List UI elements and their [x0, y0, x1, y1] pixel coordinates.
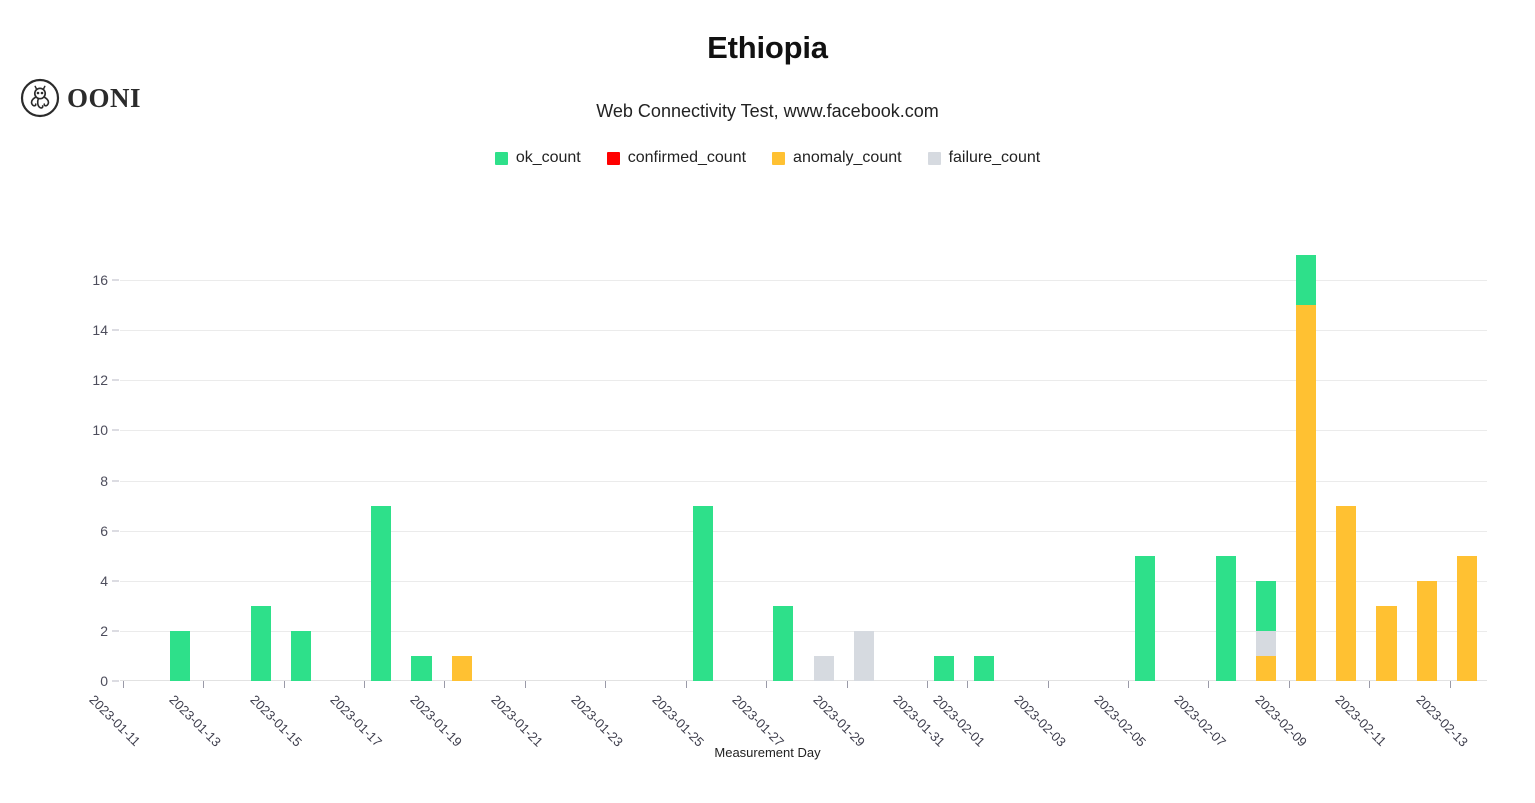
x-tick-label: 2023-01-17 [327, 692, 385, 750]
bar-segment-failure-count[interactable] [814, 656, 834, 681]
y-tick-mark [112, 580, 119, 581]
bar-segment-failure-count[interactable] [1256, 631, 1276, 656]
bar-stack[interactable] [854, 631, 874, 681]
bar-segment-ok-count[interactable] [1256, 581, 1276, 631]
y-gridline [120, 330, 1487, 331]
x-tick-mark [284, 681, 285, 688]
y-tick-mark [112, 480, 119, 481]
y-tick-mark [112, 630, 119, 631]
bar-stack[interactable] [974, 656, 994, 681]
bar-stack[interactable] [1457, 556, 1477, 681]
y-gridline [120, 430, 1487, 431]
y-tick-mark [112, 681, 119, 682]
x-tick-label: 2023-02-07 [1172, 692, 1230, 750]
y-tick-label: 16 [92, 272, 108, 288]
x-tick-label: 2023-02-03 [1011, 692, 1069, 750]
x-tick-mark [1048, 681, 1049, 688]
x-axis-title: Measurement Day [0, 745, 1535, 760]
bar-stack[interactable] [1296, 255, 1316, 681]
y-tick-label: 8 [100, 473, 108, 489]
y-gridline [120, 280, 1487, 281]
y-gridline [120, 481, 1487, 482]
chart-legend: ok_countconfirmed_countanomaly_countfail… [0, 149, 1535, 167]
x-tick-mark [605, 681, 606, 688]
y-gridline [120, 531, 1487, 532]
bar-segment-anomaly-count[interactable] [1417, 581, 1437, 681]
legend-label: failure_count [949, 149, 1041, 167]
x-tick-mark [1289, 681, 1290, 688]
bar-stack[interactable] [1417, 581, 1437, 681]
bar-stack[interactable] [934, 656, 954, 681]
legend-swatch-icon [772, 152, 785, 165]
bar-segment-ok-count[interactable] [693, 506, 713, 681]
x-tick-mark [1208, 681, 1209, 688]
x-tick-label: 2023-01-19 [408, 692, 466, 750]
bar-stack[interactable] [693, 506, 713, 681]
bar-segment-ok-count[interactable] [974, 656, 994, 681]
x-tick-mark [927, 681, 928, 688]
y-tick-label: 4 [100, 573, 108, 589]
bar-stack[interactable] [1376, 606, 1396, 681]
x-tick-label: 2023-01-29 [810, 692, 868, 750]
chart-plot-area: 02468101214162023-01-112023-01-132023-01… [120, 240, 1487, 681]
bar-stack[interactable] [291, 631, 311, 681]
bar-stack[interactable] [773, 606, 793, 681]
x-tick-label: 2023-01-25 [649, 692, 707, 750]
y-tick-label: 12 [92, 372, 108, 388]
bar-stack[interactable] [1135, 556, 1155, 681]
bar-segment-ok-count[interactable] [371, 506, 391, 681]
x-tick-label: 2023-01-15 [247, 692, 305, 750]
y-gridline [120, 581, 1487, 582]
x-tick-mark [847, 681, 848, 688]
legend-item-anomaly-count[interactable]: anomaly_count [772, 149, 902, 167]
y-tick-mark [112, 430, 119, 431]
x-tick-mark [1128, 681, 1129, 688]
x-tick-label: 2023-01-23 [569, 692, 627, 750]
bar-stack[interactable] [170, 631, 190, 681]
x-tick-mark [766, 681, 767, 688]
chart-page: OONI Ethiopia Web Connectivity Test, www… [0, 0, 1535, 803]
legend-item-failure-count[interactable]: failure_count [928, 149, 1041, 167]
bar-segment-ok-count[interactable] [170, 631, 190, 681]
legend-swatch-icon [607, 152, 620, 165]
bar-segment-ok-count[interactable] [411, 656, 431, 681]
x-tick-mark [525, 681, 526, 688]
bar-segment-ok-count[interactable] [291, 631, 311, 681]
x-tick-mark [1450, 681, 1451, 688]
y-tick-label: 10 [92, 422, 108, 438]
y-tick-mark [112, 330, 119, 331]
y-tick-label: 6 [100, 523, 108, 539]
bar-segment-ok-count[interactable] [1135, 556, 1155, 681]
legend-label: anomaly_count [793, 149, 902, 167]
bar-stack[interactable] [411, 656, 431, 681]
y-tick-mark [112, 380, 119, 381]
legend-item-ok-count[interactable]: ok_count [495, 149, 581, 167]
x-tick-mark [1369, 681, 1370, 688]
bar-stack[interactable] [251, 606, 271, 681]
x-tick-label: 2023-02-13 [1413, 692, 1471, 750]
bar-segment-anomaly-count[interactable] [1376, 606, 1396, 681]
bar-segment-ok-count[interactable] [934, 656, 954, 681]
y-tick-mark [112, 530, 119, 531]
x-tick-label: 2023-02-11 [1333, 692, 1390, 749]
bar-segment-anomaly-count[interactable] [1336, 506, 1356, 681]
bar-segment-failure-count[interactable] [854, 631, 874, 681]
x-axis-line [120, 680, 1487, 681]
bar-stack[interactable] [814, 656, 834, 681]
x-tick-label: 2023-01-13 [167, 692, 225, 750]
x-tick-label: 2023-02-05 [1091, 692, 1149, 750]
bar-segment-ok-count[interactable] [773, 606, 793, 681]
bar-segment-ok-count[interactable] [1296, 255, 1316, 305]
y-tick-mark [112, 280, 119, 281]
x-tick-label: 2023-01-21 [488, 692, 546, 750]
x-tick-label: 2023-01-27 [729, 692, 787, 750]
x-tick-mark [203, 681, 204, 688]
bar-segment-anomaly-count[interactable] [1296, 305, 1316, 681]
bar-stack[interactable] [452, 656, 472, 681]
legend-item-confirmed-count[interactable]: confirmed_count [607, 149, 746, 167]
page-title: Ethiopia [0, 30, 1535, 66]
legend-swatch-icon [495, 152, 508, 165]
legend-label: confirmed_count [628, 149, 746, 167]
bar-stack[interactable] [1256, 581, 1276, 681]
x-tick-mark [686, 681, 687, 688]
bar-segment-ok-count[interactable] [251, 606, 271, 681]
bar-segment-anomaly-count[interactable] [1256, 656, 1276, 681]
x-tick-mark [444, 681, 445, 688]
x-tick-mark [123, 681, 124, 688]
x-tick-label: 2023-02-09 [1252, 692, 1310, 750]
bar-segment-ok-count[interactable] [1216, 556, 1236, 681]
bar-stack[interactable] [1336, 506, 1356, 681]
y-tick-label: 0 [100, 673, 108, 689]
x-tick-label: 2023-01-11 [86, 692, 143, 749]
y-gridline [120, 631, 1487, 632]
x-tick-mark [967, 681, 968, 688]
bar-stack[interactable] [1216, 556, 1236, 681]
y-tick-label: 14 [92, 322, 108, 338]
y-gridline [120, 380, 1487, 381]
page-subtitle: Web Connectivity Test, www.facebook.com [0, 101, 1535, 122]
legend-swatch-icon [928, 152, 941, 165]
bar-stack[interactable] [371, 506, 391, 681]
bar-segment-anomaly-count[interactable] [1457, 556, 1477, 681]
y-tick-label: 2 [100, 623, 108, 639]
bar-segment-anomaly-count[interactable] [452, 656, 472, 681]
x-tick-mark [364, 681, 365, 688]
legend-label: ok_count [516, 149, 581, 167]
